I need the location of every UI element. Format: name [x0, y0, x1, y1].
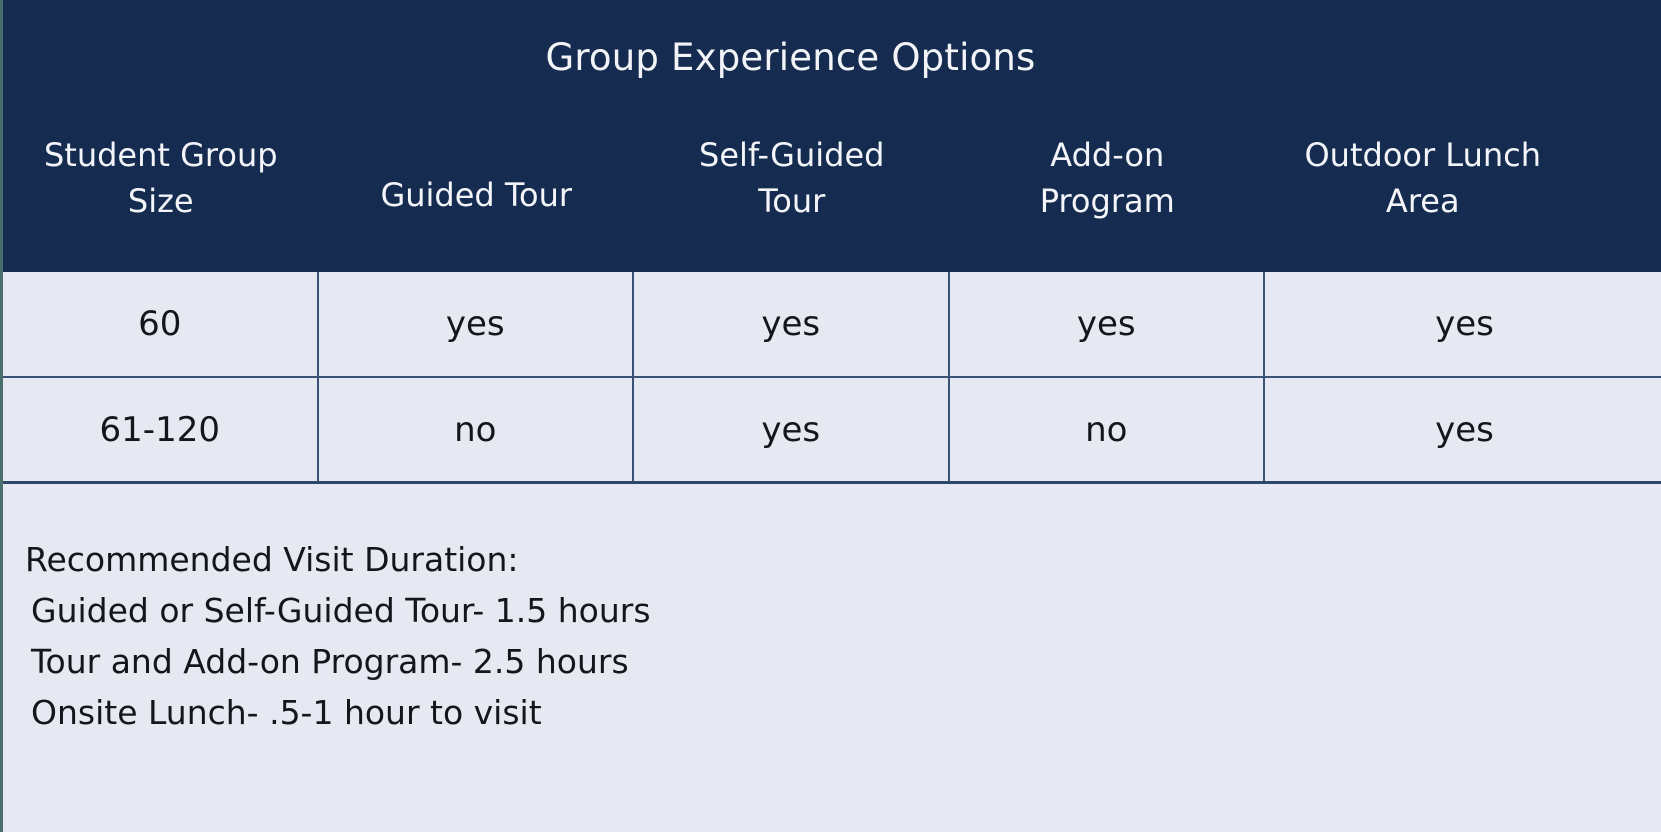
recommended-visit-duration-notes: Recommended Visit Duration: Guided or Se…: [25, 534, 1425, 738]
column-header-line-2: Area: [1304, 178, 1541, 224]
notes-line-add-on-program: Tour and Add-on Program- 2.5 hours: [25, 636, 1425, 687]
column-header-line-1: Guided Tour: [380, 172, 572, 218]
table-column-header-row: Student Group Size Guided Tour Self-Guid…: [3, 132, 1581, 254]
cell-add-on-program: yes: [950, 272, 1266, 376]
column-header-line-2: Tour: [699, 178, 884, 224]
cell-self-guided-tour: yes: [634, 272, 950, 376]
cell-guided-tour: no: [319, 378, 635, 481]
column-header-line-1: Outdoor Lunch: [1304, 132, 1541, 178]
cell-self-guided-tour: yes: [634, 378, 950, 481]
table-row: 61-120 no yes no yes: [3, 378, 1661, 484]
column-header-add-on-program: Add-on Program: [950, 132, 1266, 254]
notes-heading: Recommended Visit Duration:: [25, 534, 1425, 585]
column-header-outdoor-lunch-area: Outdoor Lunch Area: [1265, 132, 1581, 254]
column-header-line-1: Add-on: [1040, 132, 1175, 178]
cell-outdoor-lunch-area: yes: [1265, 378, 1661, 481]
table-row: 60 yes yes yes yes: [3, 272, 1661, 378]
column-header-self-guided-tour: Self-Guided Tour: [634, 132, 950, 254]
cell-guided-tour: yes: [319, 272, 635, 376]
column-header-student-group-size: Student Group Size: [3, 132, 319, 254]
column-header-line-1: Self-Guided: [699, 132, 884, 178]
cell-outdoor-lunch-area: yes: [1265, 272, 1661, 376]
cell-group-size: 60: [3, 272, 319, 376]
cell-add-on-program: no: [950, 378, 1266, 481]
column-header-line-1: Student Group: [44, 132, 278, 178]
notes-line-onsite-lunch: Onsite Lunch- .5-1 hour to visit: [25, 687, 1425, 738]
column-header-line-2: Size: [44, 178, 278, 224]
cell-group-size: 61-120: [3, 378, 319, 481]
group-experience-options-table: Group Experience Options Student Group S…: [0, 0, 1661, 832]
table-body: 60 yes yes yes yes 61-120 no yes no yes: [3, 272, 1661, 511]
column-header-guided-tour: Guided Tour: [319, 132, 635, 254]
notes-line-guided-tour: Guided or Self-Guided Tour- 1.5 hours: [25, 585, 1425, 636]
table-title: Group Experience Options: [3, 34, 1578, 81]
column-header-line-2: Program: [1040, 178, 1175, 224]
